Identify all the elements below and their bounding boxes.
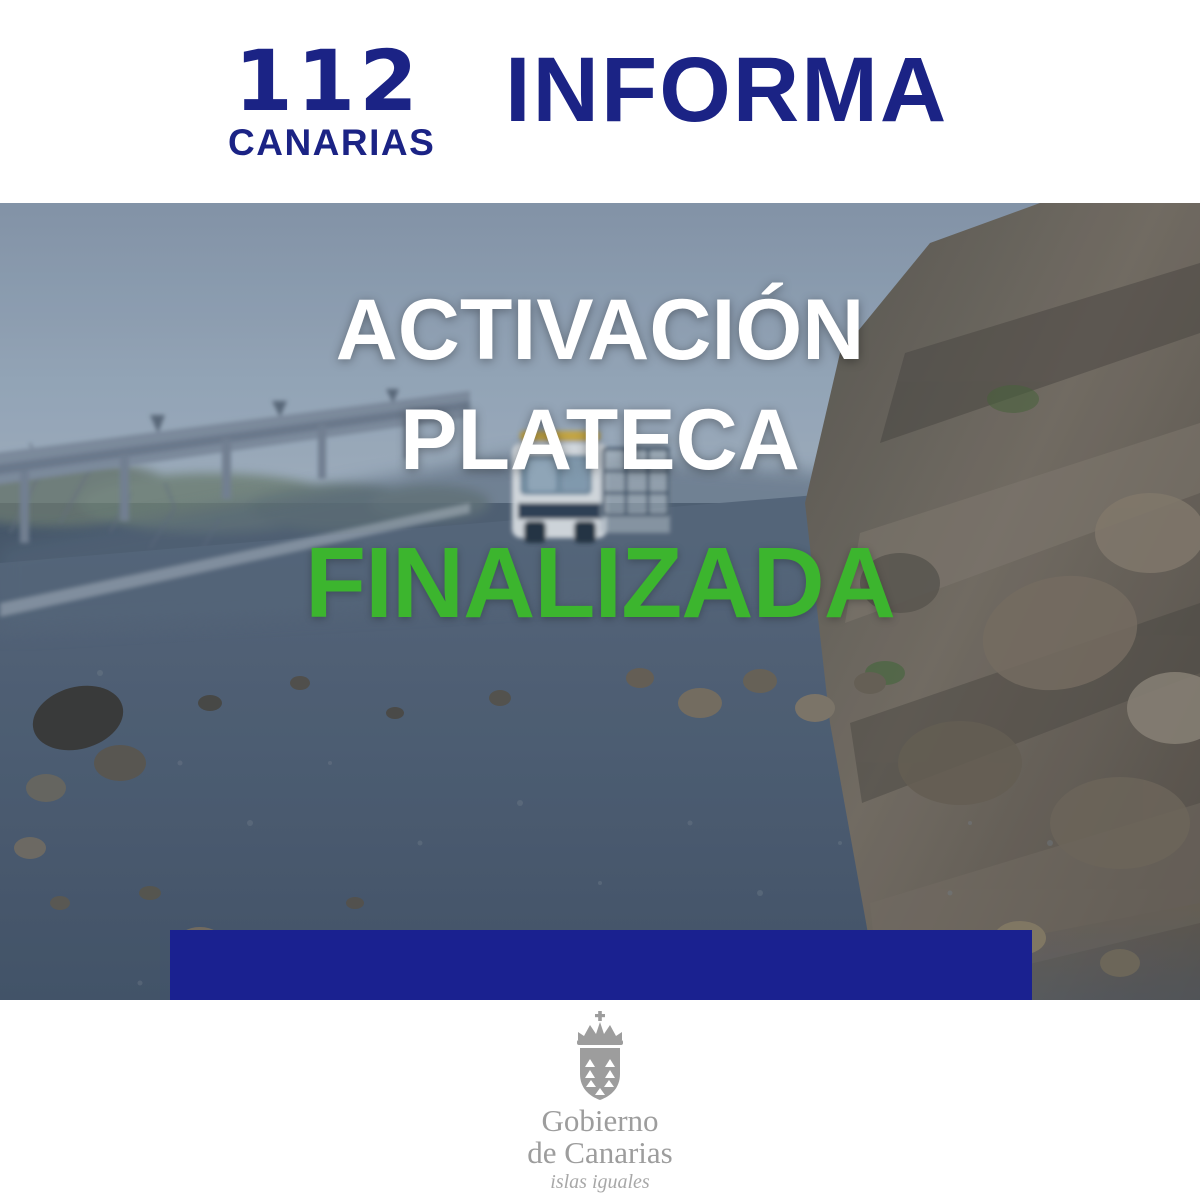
logo-digits: 112 (228, 42, 428, 122)
logo-112-canarias: 112 CANARIAS (228, 42, 428, 161)
footer-bar: Gobierno de Canarias islas iguales (0, 1000, 1200, 1200)
gov-line-2: de Canarias (527, 1137, 672, 1169)
gov-line-1: Gobierno (527, 1105, 672, 1137)
poster-root: 112 CANARIAS INFORMA (0, 0, 1200, 1200)
overlay-text-layer: ACTIVACIÓN PLATECA FINALIZADA Riesgo de … (0, 203, 1200, 1000)
headline-line-1: ACTIVACIÓN (0, 285, 1200, 376)
headline-line-2: PLATECA (0, 395, 1200, 486)
gobierno-canarias-tagline: islas iguales (550, 1171, 649, 1194)
gobierno-canarias-name: Gobierno de Canarias (527, 1105, 672, 1168)
informa-title: INFORMA (505, 44, 948, 136)
header-bar: 112 CANARIAS INFORMA (0, 0, 1200, 203)
logo-subtitle: CANARIAS (228, 124, 428, 161)
status-finalizada: FINALIZADA (0, 533, 1200, 633)
gobierno-canarias-crest-icon (564, 1010, 636, 1102)
